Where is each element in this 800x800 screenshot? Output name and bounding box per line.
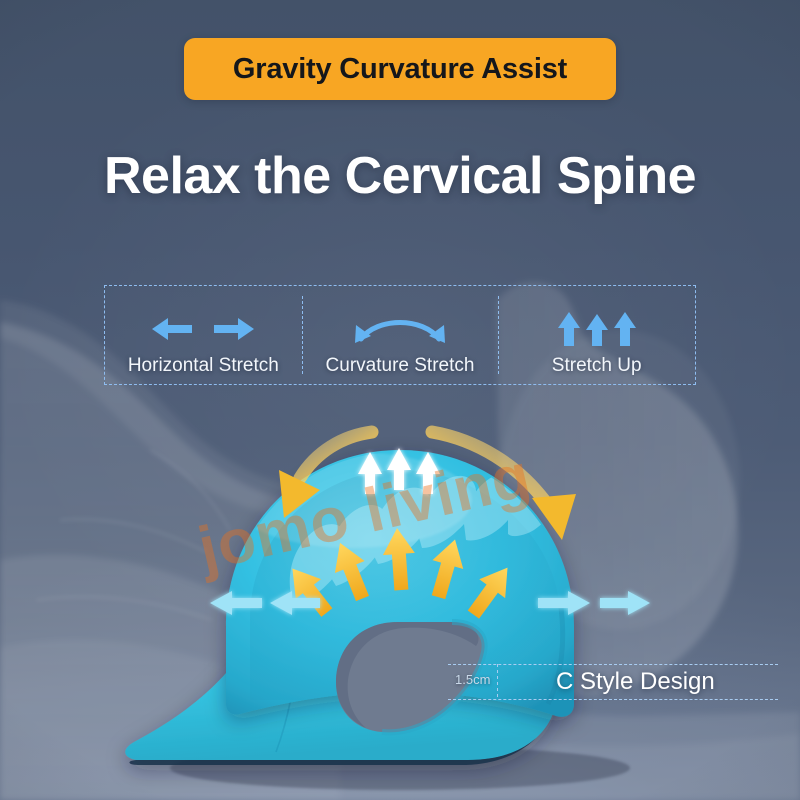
- dimension-label: 1.5cm: [455, 672, 490, 687]
- dimension-tick: [497, 664, 498, 700]
- up-arrows-white: [358, 448, 440, 494]
- product-marketing-image: Gravity Curvature Assist Relax the Cervi…: [0, 0, 800, 800]
- c-style-design-label: C Style Design: [556, 668, 715, 696]
